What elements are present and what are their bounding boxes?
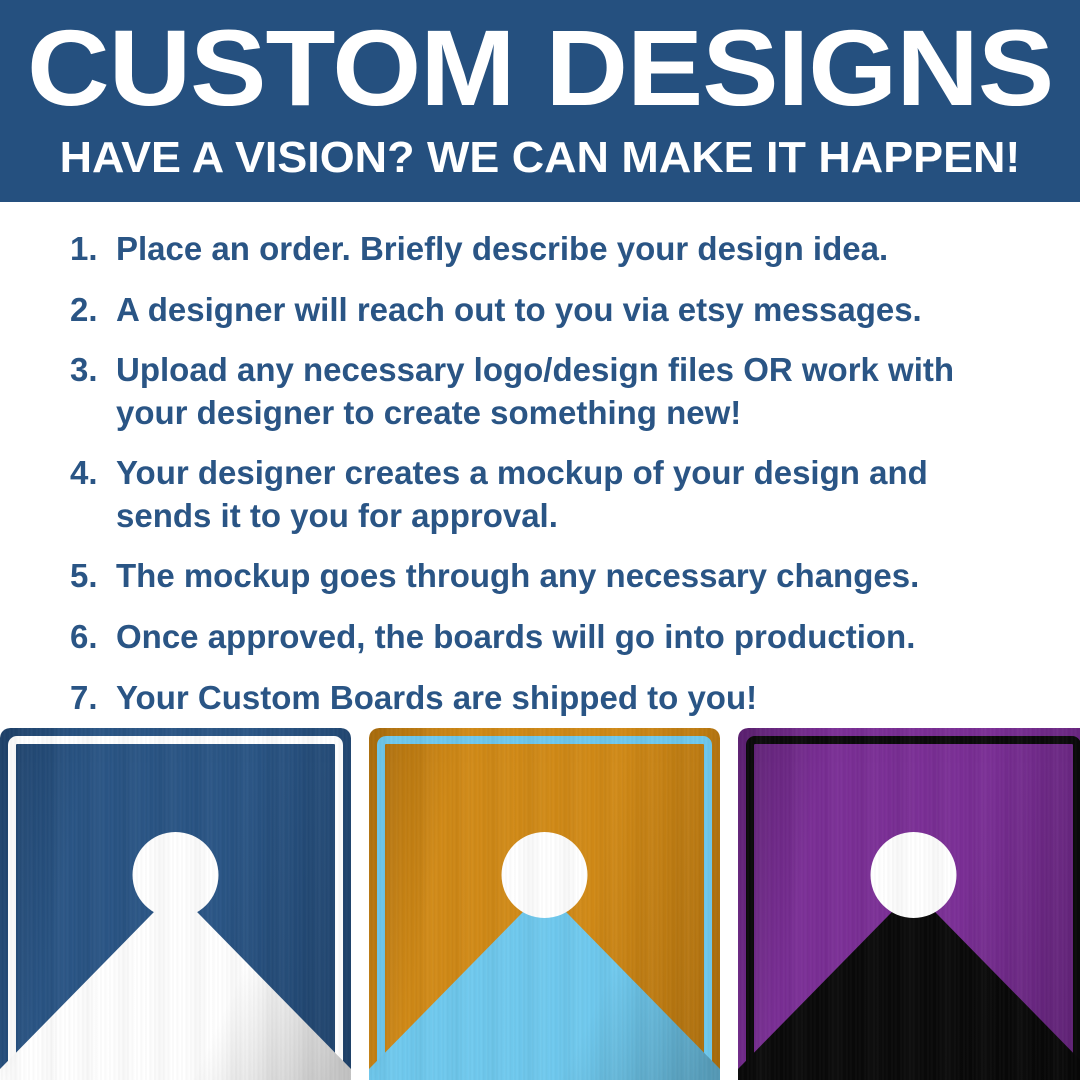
step-text: A designer will reach out to you via ets…: [116, 289, 1021, 332]
list-item: 6. Once approved, the boards will go int…: [70, 616, 1050, 659]
step-number: 2.: [70, 289, 116, 332]
steps-list: 1. Place an order. Briefly describe your…: [0, 202, 1080, 722]
page-subtitle: HAVE A VISION? WE CAN MAKE IT HAPPEN!: [60, 136, 1021, 180]
list-item: 3. Upload any necessary logo/design file…: [70, 349, 1050, 434]
step-number: 1.: [70, 228, 116, 271]
step-number: 6.: [70, 616, 116, 659]
list-item: 1. Place an order. Briefly describe your…: [70, 228, 1050, 271]
step-text: The mockup goes through any necessary ch…: [116, 555, 1021, 598]
step-text: Upload any necessary logo/design files O…: [116, 349, 1021, 434]
step-text: Once approved, the boards will go into p…: [116, 616, 1021, 659]
board-artwork-orange: [369, 728, 720, 1080]
step-text: Your designer creates a mockup of your d…: [116, 452, 1021, 537]
step-number: 5.: [70, 555, 116, 598]
cornhole-board-blue: [0, 728, 351, 1080]
board-artwork-blue: [0, 728, 351, 1080]
step-number: 4.: [70, 452, 116, 495]
board-gallery: [0, 728, 1080, 1080]
custom-designs-infographic: CUSTOM DESIGNS HAVE A VISION? WE CAN MAK…: [0, 0, 1080, 1080]
step-text: Place an order. Briefly describe your de…: [116, 228, 1021, 271]
list-item: 7. Your Custom Boards are shipped to you…: [70, 677, 1050, 720]
cornhole-board-orange: [369, 728, 720, 1080]
step-number: 7.: [70, 677, 116, 720]
page-title: CUSTOM DESIGNS: [27, 14, 1053, 122]
list-item: 4. Your designer creates a mockup of you…: [70, 452, 1050, 537]
step-number: 3.: [70, 349, 116, 392]
list-item: 2. A designer will reach out to you via …: [70, 289, 1050, 332]
cornhole-board-purple: [738, 728, 1080, 1080]
header-banner: CUSTOM DESIGNS HAVE A VISION? WE CAN MAK…: [0, 0, 1080, 202]
board-artwork-purple: [738, 728, 1080, 1080]
list-item: 5. The mockup goes through any necessary…: [70, 555, 1050, 598]
step-text: Your Custom Boards are shipped to you!: [116, 677, 1021, 720]
